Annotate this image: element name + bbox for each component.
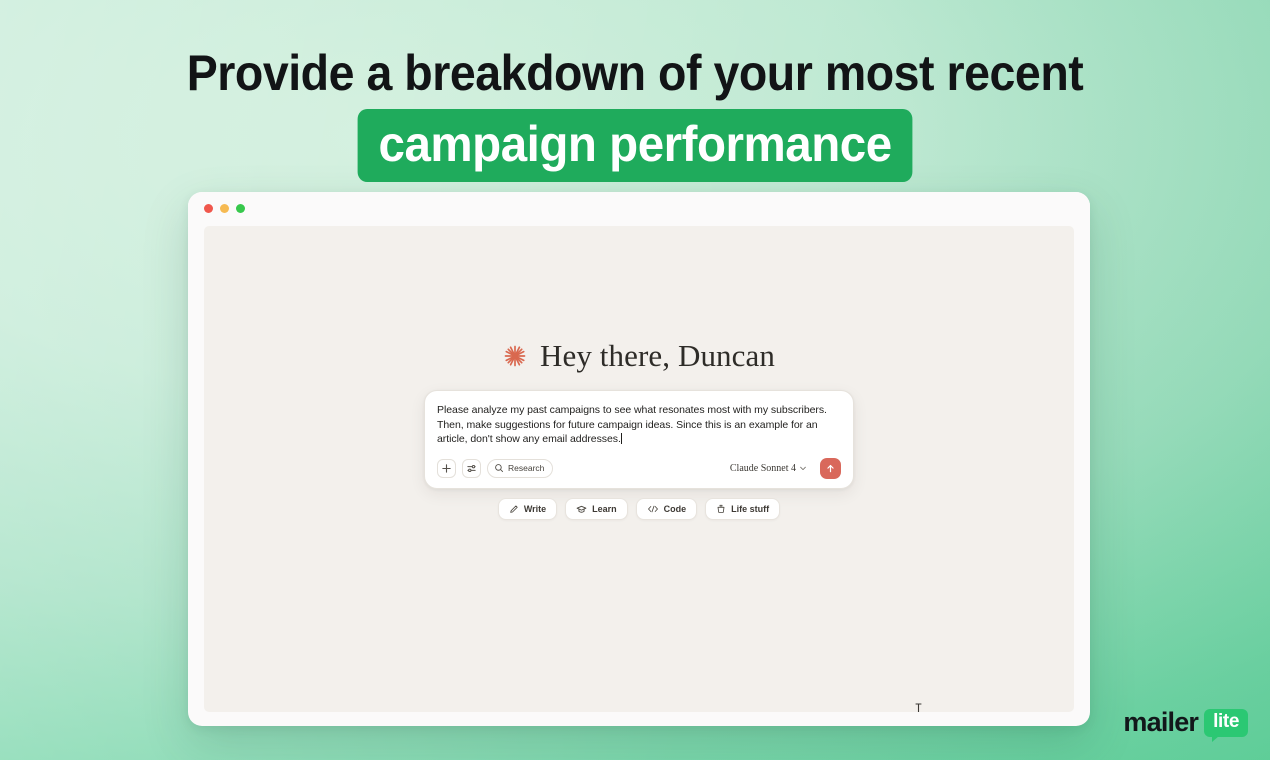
plus-icon — [441, 463, 452, 474]
logo-badge: lite — [1204, 709, 1248, 737]
traffic-lights — [204, 204, 245, 213]
search-icon — [494, 463, 504, 473]
chip-code[interactable]: Code — [636, 498, 698, 520]
code-brackets-icon — [647, 504, 659, 514]
headline: Provide a breakdown of your most recent … — [0, 44, 1270, 182]
attach-button[interactable] — [437, 459, 456, 478]
greeting: Hey there, Duncan — [204, 338, 1074, 374]
chip-learn[interactable]: Learn — [565, 498, 628, 520]
text-caret — [621, 433, 622, 444]
suggestion-chips: Write Learn Code — [204, 498, 1074, 520]
send-button[interactable] — [820, 458, 841, 479]
chip-label: Learn — [592, 504, 617, 514]
mug-icon — [716, 504, 726, 514]
chip-label: Write — [524, 504, 546, 514]
model-label: Claude Sonnet 4 — [730, 463, 796, 474]
sliders-icon — [466, 463, 477, 474]
graduation-cap-icon — [576, 504, 587, 515]
research-button[interactable]: Research — [487, 459, 553, 478]
headline-line-2: campaign performance — [0, 109, 1270, 182]
greeting-text: Hey there, Duncan — [540, 338, 775, 374]
chip-life-stuff[interactable]: Life stuff — [705, 498, 780, 520]
pencil-icon — [509, 504, 519, 514]
headline-highlight: campaign performance — [358, 109, 913, 182]
asterisk-starburst-icon — [503, 344, 527, 368]
model-selector[interactable]: Claude Sonnet 4 — [730, 463, 807, 474]
app-canvas: Hey there, Duncan Please analyze my past… — [204, 226, 1074, 712]
headline-line-1: Provide a breakdown of your most recent — [44, 44, 1225, 102]
minimize-window-button[interactable] — [220, 204, 229, 213]
composer-toolbar: Research Claude Sonnet 4 — [437, 458, 841, 479]
app-window: Hey there, Duncan Please analyze my past… — [188, 192, 1090, 726]
text-ibeam-cursor — [914, 702, 923, 712]
close-window-button[interactable] — [204, 204, 213, 213]
chip-label: Code — [664, 504, 687, 514]
logo-wordmark: mailer — [1123, 707, 1198, 738]
tools-button[interactable] — [462, 459, 481, 478]
prompt-input[interactable]: Please analyze my past campaigns to see … — [437, 403, 841, 447]
mailerlite-logo: mailer lite — [1123, 707, 1248, 738]
chip-label: Life stuff — [731, 504, 769, 514]
chip-write[interactable]: Write — [498, 498, 557, 520]
chevron-down-icon — [799, 464, 807, 472]
research-label: Research — [508, 463, 544, 473]
window-titlebar — [188, 192, 1090, 224]
prompt-composer[interactable]: Please analyze my past campaigns to see … — [424, 390, 854, 489]
prompt-text: Please analyze my past campaigns to see … — [437, 404, 827, 445]
zoom-window-button[interactable] — [236, 204, 245, 213]
arrow-up-icon — [825, 463, 836, 474]
